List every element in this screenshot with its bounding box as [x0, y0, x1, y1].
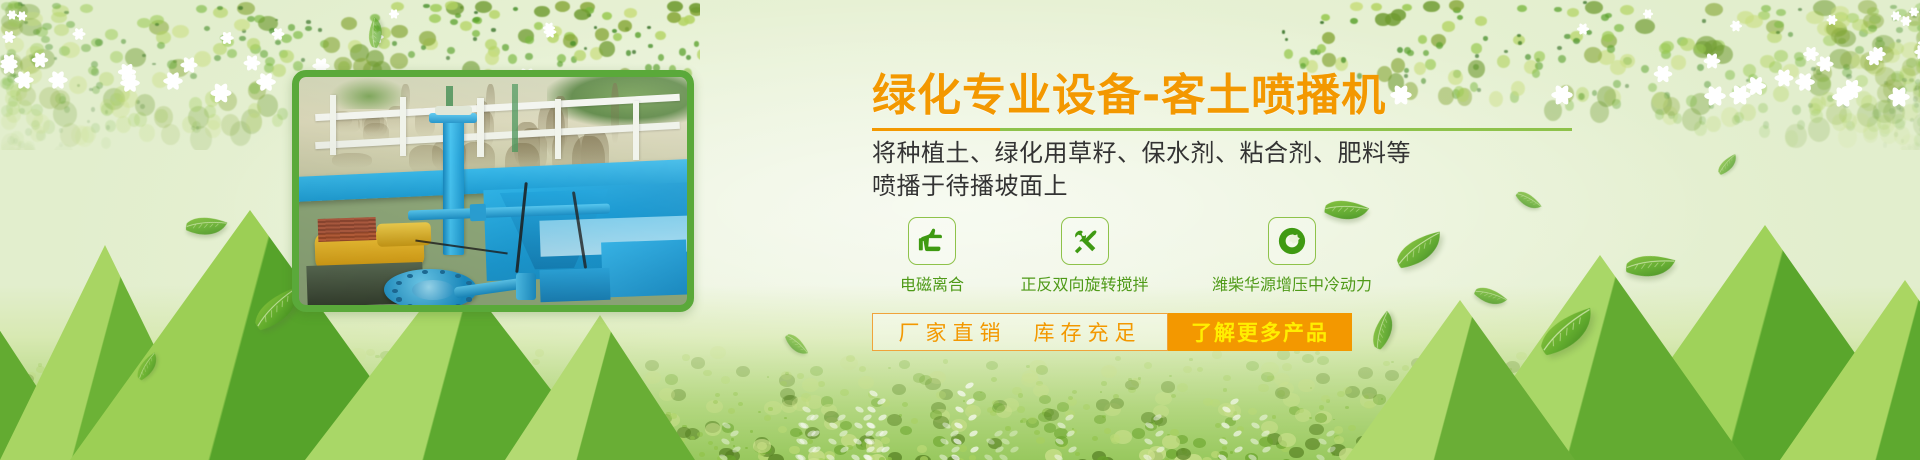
- flower-icon: [1744, 74, 1767, 97]
- promo-banner: 绿化专业设备-客土喷播机 将种植土、绿化用草籽、保水剂、粘合剂、肥料等 喷播于待…: [0, 0, 1920, 460]
- flower-icon: [388, 8, 400, 20]
- feature-label: 电磁离合: [872, 271, 992, 295]
- flower-icon: [1729, 19, 1743, 33]
- subtitle-line-2: 喷播于待播坡面上: [872, 170, 1572, 203]
- title-divider: [872, 128, 1572, 131]
- flower-icon: [271, 26, 286, 41]
- feature-item-weichai-power[interactable]: 潍柴华源增压中冷动力: [1177, 217, 1407, 295]
- flower-icon: [47, 69, 69, 91]
- grass-sprig: [1051, 409, 1071, 460]
- flower-icon: [209, 81, 233, 105]
- flower-icon: [119, 72, 141, 94]
- grass-sprig: [1312, 428, 1332, 460]
- tools-icon: [1061, 217, 1109, 265]
- flower-icon: [543, 25, 557, 39]
- flower-icon: [1703, 84, 1727, 108]
- flower-icon: [1576, 22, 1590, 36]
- page-title: 绿化专业设备-客土喷播机: [872, 70, 1572, 122]
- flower-icon: [1909, 7, 1920, 18]
- subtitle-block: 将种植土、绿化用草籽、保水剂、粘合剂、肥料等 喷播于待播坡面上: [872, 137, 1572, 203]
- flower-icon: [1865, 49, 1883, 67]
- flower-icon: [1840, 77, 1863, 100]
- flower-icon: [1, 29, 16, 44]
- product-photo: [299, 77, 687, 305]
- feature-item-electromagnetic-clutch[interactable]: 电磁离合: [872, 217, 992, 295]
- cta-tagline: 厂家直销 库存充足: [872, 313, 1168, 351]
- flower-icon: [1652, 64, 1673, 85]
- flower-icon: [16, 10, 28, 22]
- grass-sprig: [951, 381, 971, 460]
- cta-row: 厂家直销 库存充足 了解更多产品: [872, 313, 1352, 351]
- thumbs-up-icon: [908, 217, 956, 265]
- flower-icon: [1913, 43, 1920, 60]
- flower-icon: [13, 69, 35, 91]
- subtitle-line-1: 将种植土、绿化用草籽、保水剂、粘合剂、肥料等: [872, 137, 1572, 170]
- flower-icon: [1802, 45, 1820, 63]
- grass-sprig: [792, 411, 812, 460]
- flower-icon: [1890, 10, 1902, 22]
- flower-icon: [1826, 14, 1839, 27]
- flower-icon: [6, 9, 18, 21]
- grass-sprig: [1216, 392, 1236, 460]
- flower-icon: [1887, 84, 1911, 108]
- grass-sprig: [1140, 409, 1160, 460]
- grass-sprig: [862, 388, 882, 460]
- flower-icon: [1642, 9, 1654, 21]
- flower-icon: [1794, 71, 1816, 93]
- flower-icon: [72, 27, 87, 42]
- feature-item-bidirectional-mixing[interactable]: 正反双向旋转搅拌: [992, 217, 1177, 295]
- flower-icon: [255, 71, 277, 93]
- grass-sprig: [716, 422, 736, 460]
- flower-icon: [243, 53, 262, 72]
- banner-content: 绿化专业设备-客土喷播机 将种植土、绿化用草籽、保水剂、粘合剂、肥料等 喷播于待…: [872, 70, 1572, 351]
- flower-icon: [1703, 52, 1722, 71]
- grass-sprig: [1246, 412, 1266, 460]
- grass-sprig: [824, 411, 844, 460]
- product-photo-card[interactable]: [292, 70, 694, 312]
- learn-more-button[interactable]: 了解更多产品: [1168, 313, 1352, 351]
- flower-icon: [31, 51, 50, 70]
- flower-icon: [1773, 67, 1794, 88]
- feature-list: 电磁离合 正反双向旋转搅拌: [872, 217, 1572, 295]
- feature-label: 潍柴华源增压中冷动力: [1177, 271, 1407, 295]
- flower-icon: [162, 70, 184, 92]
- grass-sprig: [980, 429, 1000, 460]
- flower-icon: [220, 30, 235, 45]
- feature-label: 正反双向旋转搅拌: [992, 271, 1177, 295]
- engine-gear-icon: [1268, 217, 1316, 265]
